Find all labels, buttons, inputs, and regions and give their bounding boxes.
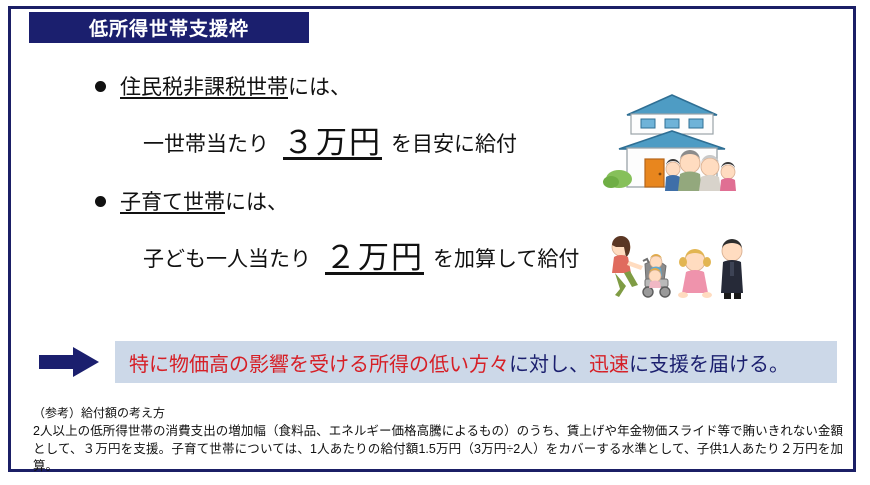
footnote-body: 2人以上の低所得世帯の消費支出の増加幅（食料品、エネルギー価格高騰によるもの）の… [33,423,843,476]
conclusion-highlight-box: 特に物価高の影響を受ける所得の低い方々 に対し、 迅速 に支援を届ける。 [115,341,837,383]
bullet-dot-icon [95,81,106,92]
bullet-item-2: 子育て世帯 には、 子ども一人当たり ２万円 を加算して給付 [95,186,579,275]
bullet-1-target-label: 住民税非課税世帯 [120,71,288,101]
bullet-dot-icon [95,196,106,207]
house-with-family-illustration [597,87,747,192]
bullet-1-line-1: 住民税非課税世帯 には、 [95,71,517,101]
conclusion-segment-red-2: 迅速 [589,348,629,377]
conclusion-segment-navy-2: に支援を届ける。 [629,348,789,377]
bullet-1-line-2-suffix: を目安に給付 [391,128,517,158]
bullet-item-1: 住民税非課税世帯 には、 一世帯当たり ３万円 を目安に給付 [95,71,517,160]
conclusion-segment-red-1: 特に物価高の影響を受ける所得の低い方々 [129,348,509,377]
bullet-2-unit-label: 子ども一人当たり [143,243,311,273]
conclusion-row: 特に物価高の影響を受ける所得の低い方々 に対し、 迅速 に支援を届ける。 [37,340,837,384]
bullet-1-line-1-suffix: には、 [288,71,351,101]
footnote: （参考）給付額の考え方 2人以上の低所得世帯の消費支出の増加幅（食料品、エネルギ… [33,405,843,476]
bullet-2-line-1-suffix: には、 [225,186,288,216]
bullet-1-amount: ３万円 [283,117,382,162]
conclusion-segment-navy-1: に対し、 [509,348,589,377]
bullet-2-line-2: 子ども一人当たり ２万円 を加算して給付 [143,230,579,275]
bullet-2-line-2-suffix: を加算して給付 [433,243,579,273]
slide-frame: 低所得世帯支援枠 住民税非課税世帯 には、 一世帯当たり ３万円 を目安に給付 … [8,6,856,472]
header-banner: 低所得世帯支援枠 [29,12,309,43]
page-title: 低所得世帯支援枠 [89,14,249,41]
bullet-1-line-2: 一世帯当たり ３万円 を目安に給付 [143,115,517,160]
right-arrow-icon [37,345,101,379]
bullet-2-amount: ２万円 [325,232,424,277]
bullet-1-unit-label: 一世帯当たり [143,128,269,158]
family-with-children-illustration [599,231,751,309]
bullet-2-target-label: 子育て世帯 [120,186,225,216]
bullet-2-line-1: 子育て世帯 には、 [95,186,579,216]
family-illustration-svg [599,231,751,309]
house-illustration-svg [597,87,747,192]
footnote-title: （参考）給付額の考え方 [33,405,843,422]
